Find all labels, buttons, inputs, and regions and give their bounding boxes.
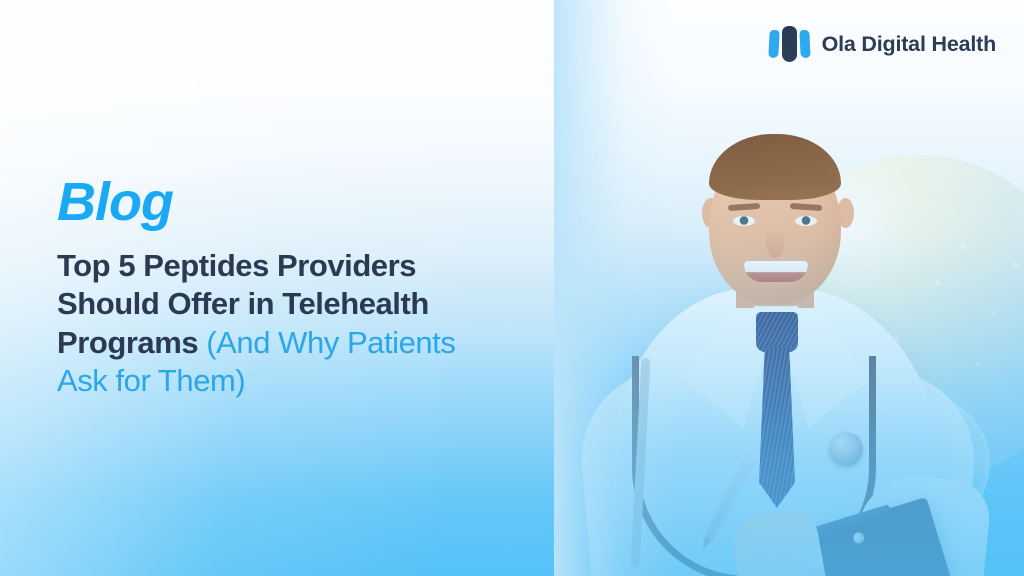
headline-line-1: Top 5 Peptides Providers — [57, 248, 416, 283]
doctor-hair — [709, 134, 841, 200]
doctor-nose — [766, 228, 784, 258]
stethoscope-chestpiece — [829, 432, 863, 466]
page-title: Top 5 Peptides Providers Should Offer in… — [57, 247, 557, 401]
clipboard-rivet-right — [852, 531, 866, 545]
blog-hero-banner: Ola Digital Health Blog Top 5 Peptides P… — [0, 0, 1024, 576]
hero-artwork — [554, 0, 1024, 576]
doctor-smile — [744, 260, 808, 282]
doctor-eye-left — [733, 216, 755, 226]
headline-line-4-accent: Ask for Them) — [57, 363, 245, 398]
doctor-photo — [576, 120, 1006, 576]
doctor-tie-knot — [756, 312, 798, 352]
headline-line-2: Should Offer in Telehealth — [57, 286, 429, 321]
doctor-eye-right — [795, 216, 817, 226]
headline-line-3-accent: (And Why Patients — [206, 325, 455, 360]
headline-line-3-bold: Programs — [57, 325, 206, 360]
kicker-blog-label: Blog — [57, 175, 557, 229]
hero-copy-block: Blog Top 5 Peptides Providers Should Off… — [57, 175, 557, 401]
